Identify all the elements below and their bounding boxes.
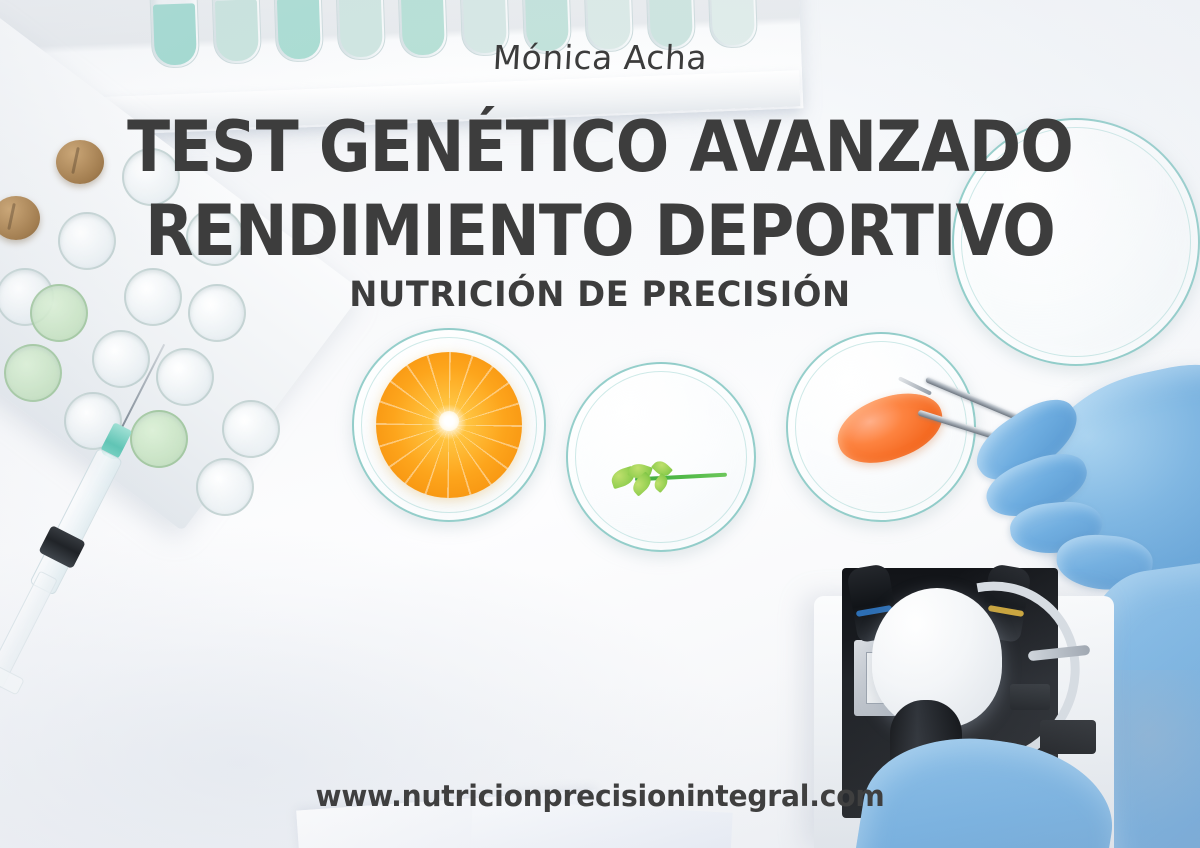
title-line-1: TEST GENÉTICO AVANZADO bbox=[60, 112, 1140, 182]
subtitle: NUTRICIÓN DE PRECISIÓN bbox=[24, 275, 1176, 315]
title-line-2: RENDIMIENTO DEPORTIVO bbox=[60, 196, 1140, 266]
text-overlay: Mónica Acha TEST GENÉTICO AVANZADO RENDI… bbox=[0, 0, 1200, 848]
website-url: www.nutricionprecisionintegral.com bbox=[18, 779, 1182, 813]
author-name: Mónica Acha bbox=[0, 38, 1200, 77]
poster: Mónica Acha TEST GENÉTICO AVANZADO RENDI… bbox=[0, 0, 1200, 848]
